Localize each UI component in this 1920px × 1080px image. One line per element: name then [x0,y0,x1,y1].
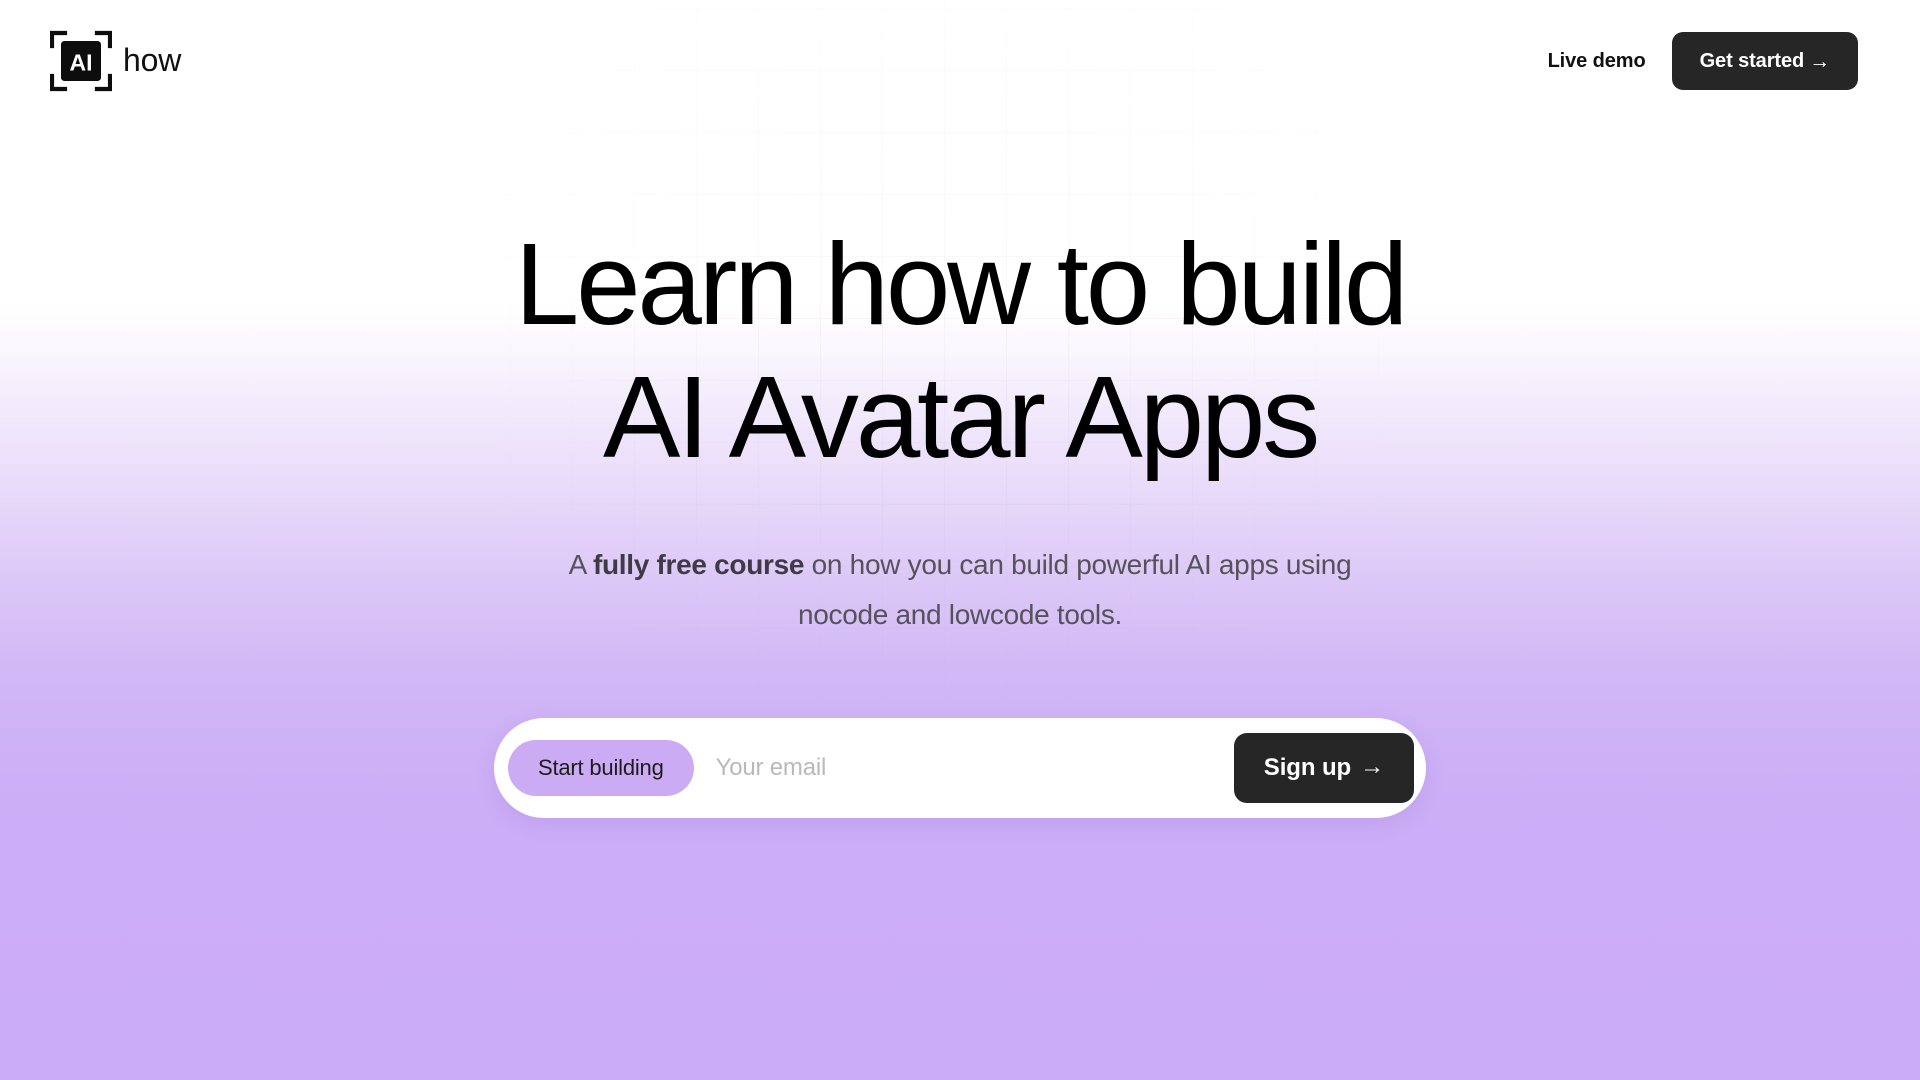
sign-up-button[interactable]: Sign up → [1234,733,1414,803]
site-header: AI how Live demo Get started → [0,0,1920,140]
ai-scan-logo-icon: AI [50,30,112,92]
signup-section: Start building Sign up → [494,718,1426,818]
email-input[interactable] [694,738,1234,798]
start-building-badge[interactable]: Start building [508,740,694,796]
subtitle-emphasis: fully free course [593,549,804,580]
brand-name: how [123,44,181,78]
page-title: Learn how to build AI Avatar Apps [515,218,1405,484]
svg-text:AI: AI [70,50,93,76]
get-started-label: Get started [1700,50,1805,73]
hero-subtitle: A fully free course on how you can build… [550,540,1370,640]
hero-section: Learn how to build AI Avatar Apps A full… [0,0,1920,1080]
subtitle-suffix: on how you can build powerful AI apps us… [798,549,1351,630]
header-nav: Live demo Get started → [1548,30,1858,92]
arrow-right-icon: → [1360,755,1384,779]
signup-form: Start building Sign up → [494,718,1426,818]
page-background: AI how Live demo Get started → Learn how… [0,0,1920,1080]
get-started-button[interactable]: Get started → [1672,32,1858,90]
sign-up-label: Sign up [1264,754,1351,782]
headline-line-2: AI Avatar Apps [603,352,1317,482]
subtitle-prefix: A [569,549,593,580]
headline-line-1: Learn how to build [515,219,1405,349]
brand-logo[interactable]: AI how [50,30,181,92]
arrow-right-icon: → [1809,51,1830,72]
nav-link-live-demo[interactable]: Live demo [1548,50,1646,73]
